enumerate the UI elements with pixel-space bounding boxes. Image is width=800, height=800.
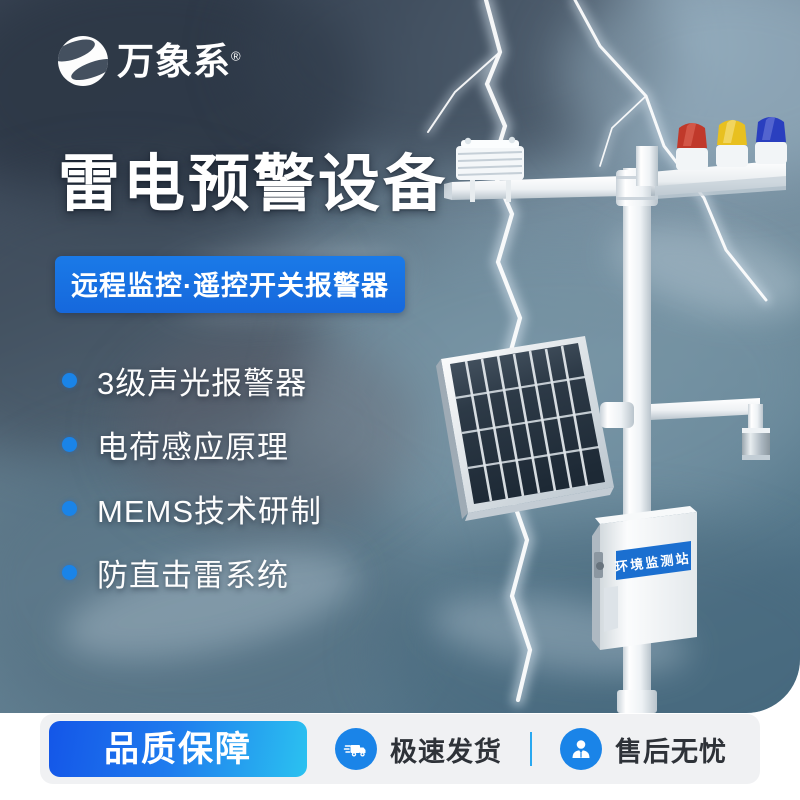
trust-item-label: 极速发货 (390, 730, 502, 769)
control-enclosure: 环境监测站 (592, 506, 697, 650)
trust-divider (530, 732, 532, 766)
brand-logo: 万象系® (58, 36, 242, 86)
list-item: 电荷感应原理 (62, 412, 322, 476)
product-banner: 环境监测站 (0, 0, 800, 800)
list-item: 防直击雷系统 (62, 540, 322, 604)
swirl-sphere-logo-icon (58, 36, 108, 86)
trust-item-label: 售后无忧 (615, 730, 727, 769)
feature-label: 防直击雷系统 (97, 550, 289, 595)
yellow-alarm-beacon (716, 120, 748, 167)
cylindrical-sensor (742, 428, 770, 460)
feature-label: MEMS技术研制 (97, 486, 322, 531)
list-item: 3级声光报警器 (62, 348, 322, 412)
red-alarm-beacon (676, 123, 708, 170)
delivery-truck-icon (335, 728, 377, 770)
blue-alarm-beacon (755, 117, 787, 164)
list-item: MEMS技术研制 (62, 476, 322, 540)
quality-badge: 品质保障 (49, 721, 307, 777)
bullet-dot-icon (62, 373, 77, 388)
subtitle-badge: 远程监控·遥控开关报警器 (55, 256, 405, 313)
trust-bar: 品质保障 极速发货 (40, 714, 760, 784)
trust-item-aftersales: 售后无忧 (560, 728, 727, 770)
trademark-symbol: ® (231, 48, 242, 63)
page-title: 雷电预警设备 (58, 152, 448, 218)
sensor-arm-right (651, 398, 763, 432)
trust-item-shipping: 极速发货 (335, 728, 502, 770)
feature-list: 3级声光报警器 电荷感应原理 MEMS技术研制 防直击雷系统 (62, 348, 322, 604)
feature-label: 电荷感应原理 (97, 422, 289, 467)
solar-panel (436, 336, 634, 521)
brand-name: 万象系® (117, 43, 242, 80)
three-stage-alarm-beacons (676, 117, 787, 170)
brand-name-text: 万象系 (117, 41, 231, 82)
bullet-dot-icon (62, 501, 77, 516)
feature-label: 3级声光报警器 (97, 358, 307, 403)
quality-badge-label: 品质保障 (104, 732, 252, 767)
bullet-dot-icon (62, 565, 77, 580)
support-agent-icon (560, 728, 602, 770)
bullet-dot-icon (62, 437, 77, 452)
